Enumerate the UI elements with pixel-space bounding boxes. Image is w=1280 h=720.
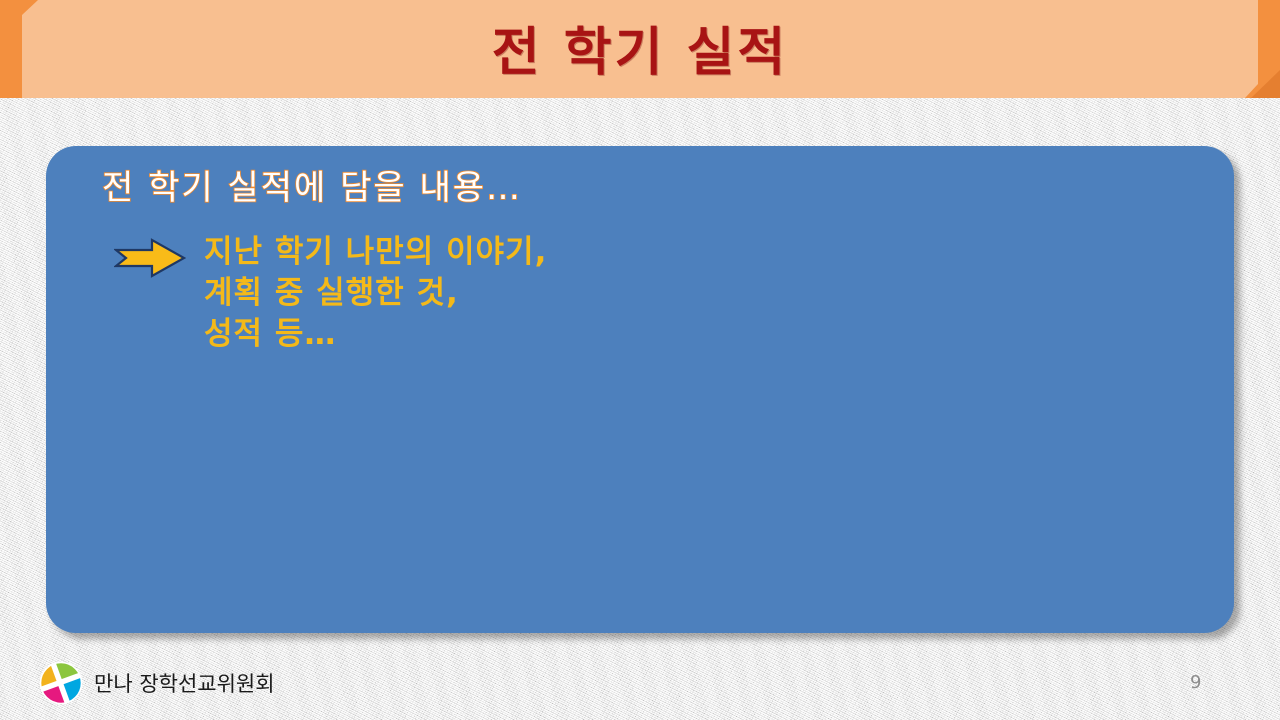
bullet-line-2: 계획 중 실행한 것, — [204, 273, 547, 314]
panel-heading: 전 학기 실적에 담을 내용… — [102, 160, 522, 209]
bullet-line-1: 지난 학기 나만의 이야기, — [204, 232, 547, 273]
organization-logo-icon — [39, 661, 83, 705]
page-number: 9 — [1190, 672, 1201, 693]
slide-header: 전 학기 실적 — [0, 0, 1280, 98]
bullet-text-block: 지난 학기 나만의 이야기, 계획 중 실행한 것, 성적 등… — [204, 232, 547, 355]
bullet-row: 지난 학기 나만의 이야기, 계획 중 실행한 것, 성적 등… — [114, 232, 547, 355]
content-panel: 전 학기 실적에 담을 내용… 지난 학기 나만의 이야기, 계획 중 실행한 … — [46, 146, 1234, 633]
slide-title: 전 학기 실적 — [0, 0, 1280, 98]
presentation-slide: 전 학기 실적 전 학기 실적에 담을 내용… 지난 학기 나만의 이야기, 계… — [0, 0, 1280, 720]
organization-name: 만나 장학선교위원회 — [94, 668, 275, 698]
bullet-line-3: 성적 등… — [204, 314, 547, 355]
right-arrow-icon — [114, 238, 186, 278]
